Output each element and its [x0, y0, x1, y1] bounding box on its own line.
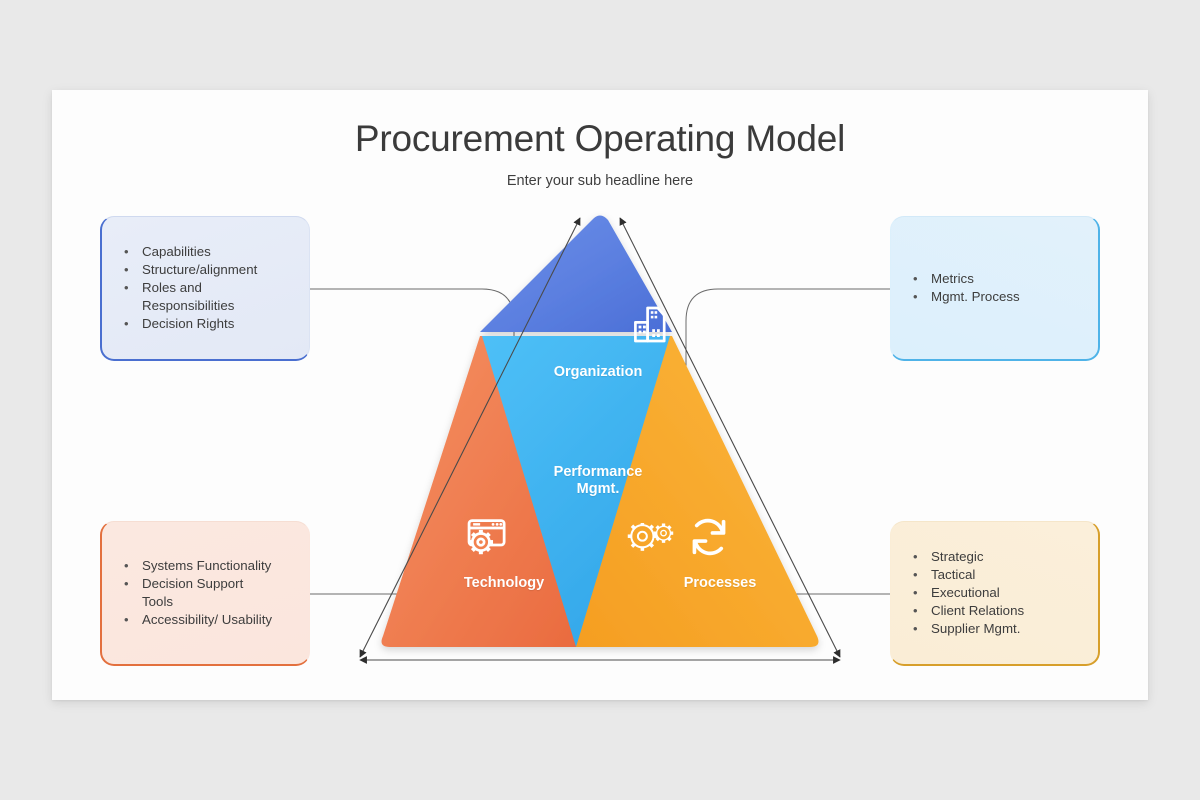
list-item: Systems Functionality — [120, 557, 272, 575]
list-item: Capabilities — [120, 243, 257, 261]
list-item: Metrics — [909, 270, 1020, 288]
callout-list-bottom-right: StrategicTacticalExecutionalClient Relat… — [909, 548, 1024, 638]
list-item: Accessibility/ Usability — [120, 611, 272, 629]
list-item: Structure/alignment — [120, 261, 257, 279]
slide-canvas: Procurement Operating Model Enter your s… — [52, 90, 1148, 700]
segment-label-performance: Performance Mgmt. — [543, 464, 653, 498]
list-item: Decision Support Tools — [120, 575, 272, 611]
list-item: Mgmt. Process — [909, 288, 1020, 306]
list-item: Tactical — [909, 566, 1024, 584]
list-item: Supplier Mgmt. — [909, 620, 1024, 638]
segment-label-organization: Organization — [508, 364, 688, 381]
segment-label-processes: Processes — [660, 575, 780, 592]
callout-list-top-left: CapabilitiesStructure/alignmentRoles and… — [120, 243, 257, 333]
browser-gear-icon — [465, 517, 513, 564]
list-item: Roles and Responsibilities — [120, 279, 257, 315]
gears-icon — [624, 523, 676, 572]
callout-list-bottom-left: Systems FunctionalityDecision Support To… — [120, 557, 272, 629]
buildings-icon — [627, 300, 675, 353]
callout-top-right[interactable]: MetricsMgmt. Process — [890, 216, 1100, 361]
callout-list-top-right: MetricsMgmt. Process — [909, 270, 1020, 306]
segment-label-technology: Technology — [444, 575, 564, 592]
list-item: Executional — [909, 584, 1024, 602]
callout-bottom-left[interactable]: Systems FunctionalityDecision Support To… — [100, 521, 310, 666]
list-item: Strategic — [909, 548, 1024, 566]
refresh-cycle-icon — [684, 514, 734, 565]
list-item: Client Relations — [909, 602, 1024, 620]
callout-bottom-right[interactable]: StrategicTacticalExecutionalClient Relat… — [890, 521, 1100, 666]
list-item: Decision Rights — [120, 315, 257, 333]
callout-top-left[interactable]: CapabilitiesStructure/alignmentRoles and… — [100, 216, 310, 361]
